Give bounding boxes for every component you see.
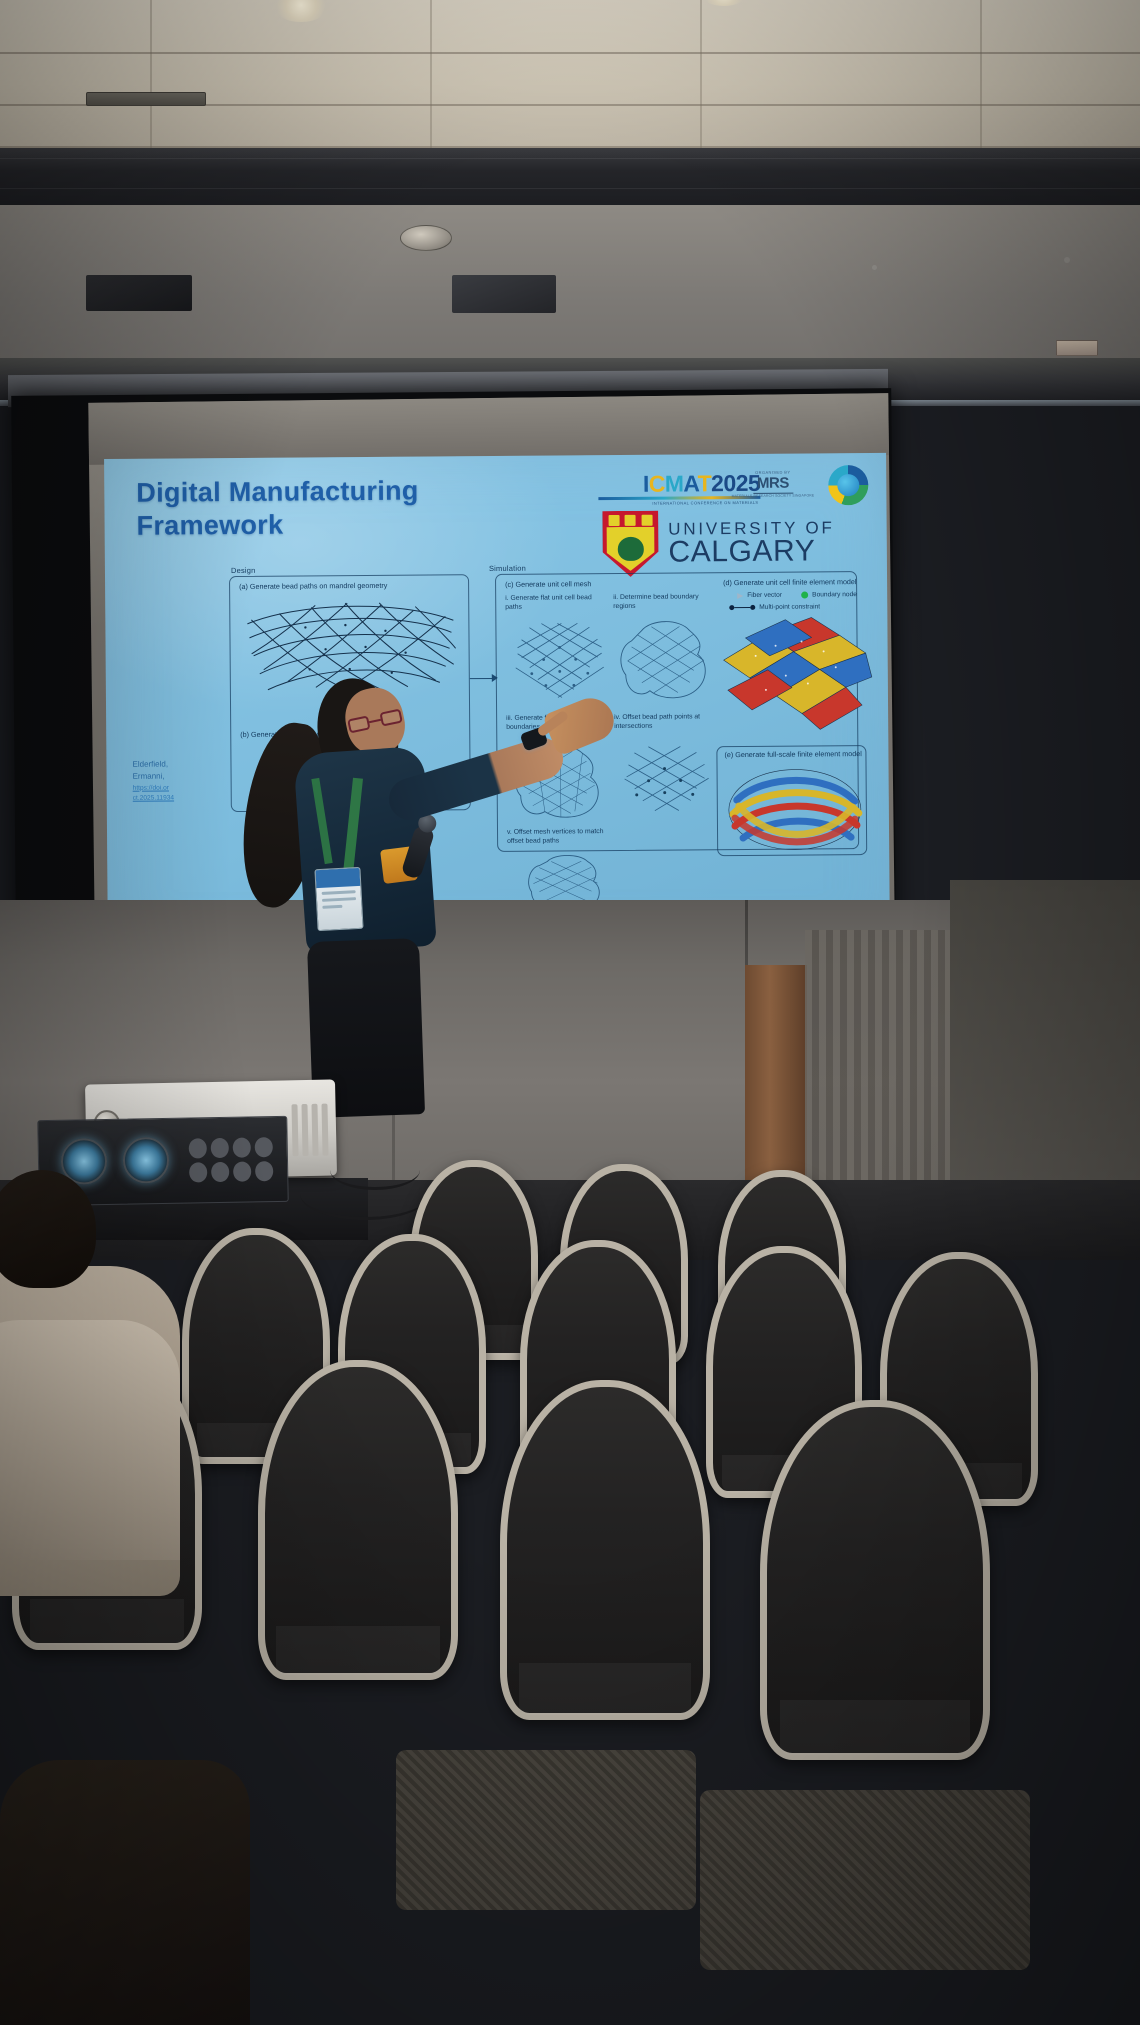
ceiling-light [272, 0, 330, 22]
wall-sign [1056, 340, 1098, 356]
conference-emblem-icon [828, 465, 868, 505]
chair [500, 1380, 710, 1720]
audience-member-second [0, 1760, 250, 2025]
chair [258, 1360, 458, 1680]
chair-seat [396, 1750, 696, 1910]
unit-cell-fem-render [715, 615, 876, 734]
icmat-subtitle: INTERNATIONAL CONFERENCE ON MATERIALS [652, 500, 758, 506]
section-label-design: Design [231, 566, 256, 575]
substep-v: v. Offset mesh vertices to match offset … [507, 827, 619, 847]
university-line-2: CALGARY [668, 536, 835, 567]
university-wordmark: UNIVERSITY OF CALGARY [668, 519, 835, 567]
offset-bead-path-points-mesh [618, 740, 715, 823]
mrs-bottom-text: MATERIALS RESEARCH SOCIETY SINGAPORE [732, 493, 815, 498]
substep-ii: ii. Determine bead boundary regions [613, 592, 705, 611]
presenter-name-badge [314, 867, 363, 931]
legend-label: Boundary node [812, 591, 857, 598]
substep-iv: iv. Offset bead path points at intersect… [614, 712, 718, 732]
ceiling-smoke-detector [400, 225, 452, 251]
slide-title-line-1: Digital Manufacturing [136, 475, 419, 510]
ceiling-speaker [86, 275, 192, 311]
boundary-node-icon [801, 591, 808, 598]
audience-shoulder [0, 1320, 180, 1560]
ceiling-vent [86, 92, 206, 106]
substep-i: i. Generate flat unit cell bead paths [505, 593, 601, 613]
mrs-logo: ORGANISED BY MRS MATERIALS RESEARCH SOCI… [731, 469, 814, 498]
bead-boundary-regions-mesh [617, 616, 714, 705]
panel-d-title: (d) Generate unit cell finite element mo… [723, 577, 873, 588]
conference-photo: Digital Manufacturing Framework ICMAT202… [0, 0, 1140, 2025]
legend-multi-point-constraint: Multi-point constraint [729, 603, 820, 611]
legend-boundary-node: Boundary node [801, 591, 857, 598]
section-label-simulation: Simulation [489, 564, 526, 573]
legend-fiber-vector: Fiber vector [737, 592, 782, 599]
panel-c-title: (c) Generate unit cell mesh [505, 578, 705, 589]
ceiling-speaker [452, 275, 556, 313]
audience-member-front [0, 1170, 260, 1670]
icmat-wordmark: ICMAT [643, 470, 711, 498]
slide-title: Digital Manufacturing Framework [136, 475, 419, 543]
flat-unit-cell-bead-path-mesh [511, 617, 608, 706]
audience-head [0, 1170, 96, 1288]
ceiling-light [700, 0, 748, 6]
slide-title-line-2: Framework [136, 507, 419, 542]
presenter [150, 590, 480, 1110]
mrs-wordmark: MRS [731, 474, 814, 492]
chair [760, 1400, 990, 1760]
legend-label: Multi-point constraint [759, 603, 820, 610]
full-scale-fem-render [725, 765, 866, 854]
shield-books-icon [608, 515, 652, 526]
fiber-vector-icon [737, 593, 743, 599]
multi-point-constraint-icon [729, 605, 755, 610]
ceiling-soffit [0, 148, 1140, 212]
chair-seat [700, 1790, 1030, 1970]
panel-e-title: (e) Generate full-scale finite element m… [724, 749, 872, 760]
legend-label: Fiber vector [747, 592, 782, 599]
